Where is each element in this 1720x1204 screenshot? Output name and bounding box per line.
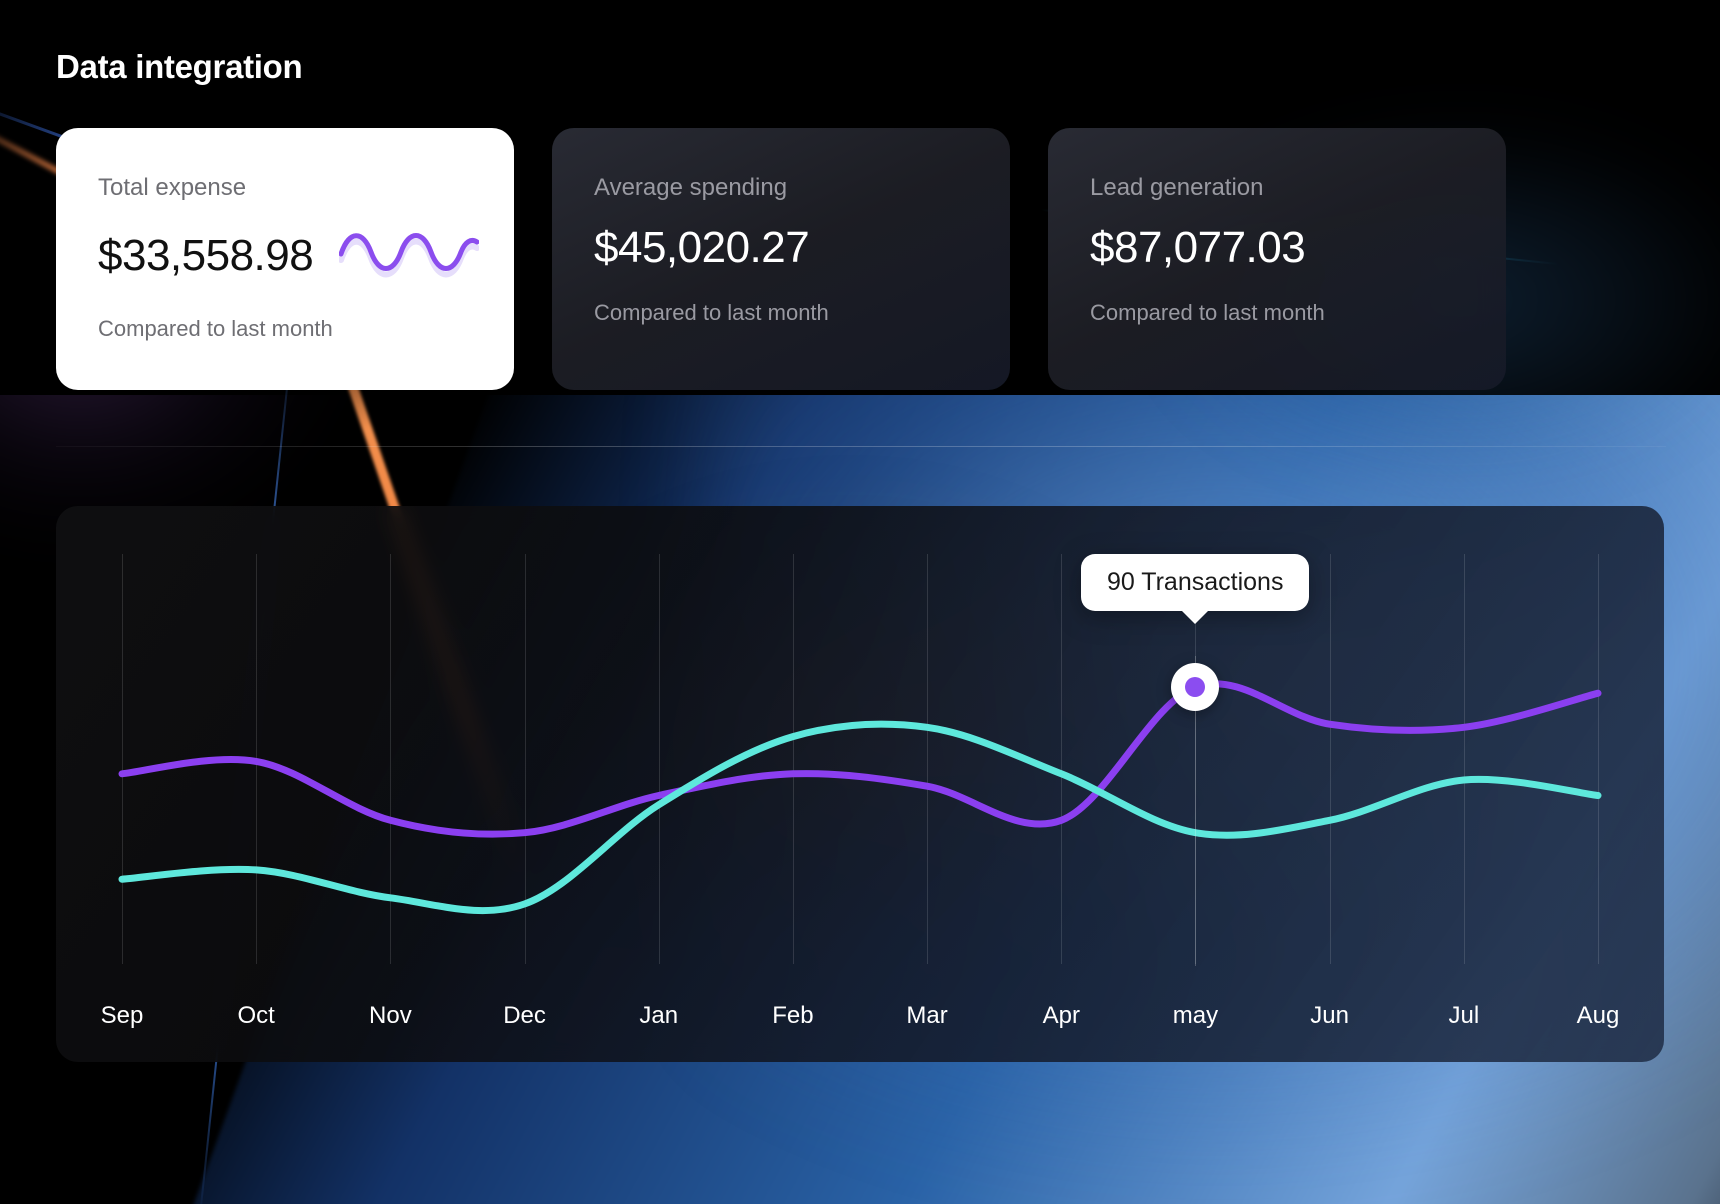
chart-tooltip: 90 Transactions — [1081, 554, 1310, 611]
section-divider — [56, 446, 1666, 447]
chart-tooltip-text: 90 Transactions — [1107, 570, 1284, 595]
chart-inner: 90 Transactions SepOctNovDecJanFebMarApr… — [56, 506, 1664, 1062]
stat-card-value: $33,558.98 — [98, 234, 313, 278]
stat-card-subtitle: Compared to last month — [594, 300, 968, 326]
stat-card-label: Lead generation — [1090, 176, 1464, 200]
chart-x-tick-label: may — [1173, 1002, 1218, 1030]
chart-x-axis: SepOctNovDecJanFebMarAprmayJunJulAug — [56, 1002, 1664, 1036]
chart-series-line — [122, 684, 1598, 834]
wave-sparkline-icon — [339, 226, 479, 286]
chart-x-tick-label: Apr — [1043, 1002, 1080, 1030]
tooltip-arrow-icon — [1181, 610, 1209, 624]
stat-card-value: $87,077.03 — [1090, 226, 1305, 270]
stat-card-total-expense[interactable]: Total expense $33,558.98 Compared to las… — [56, 128, 514, 390]
stat-card-value-row: $33,558.98 — [98, 226, 472, 286]
chart-x-tick-label: Aug — [1577, 1002, 1620, 1030]
marker-dot-icon — [1185, 677, 1205, 697]
page-title: Data integration — [56, 48, 302, 86]
chart-x-tick-label: Jan — [639, 1002, 678, 1030]
transactions-chart-panel[interactable]: 90 Transactions SepOctNovDecJanFebMarApr… — [56, 506, 1664, 1062]
stat-card-lead-generation[interactable]: Lead generation $87,077.03 Compared to l… — [1048, 128, 1506, 390]
dashboard-root: Data integration Total expense $33,558.9… — [0, 0, 1720, 1204]
chart-series-line — [122, 724, 1598, 910]
chart-x-tick-label: Oct — [238, 1002, 275, 1030]
stat-card-list: Total expense $33,558.98 Compared to las… — [56, 128, 1664, 390]
chart-x-tick-label: Mar — [906, 1002, 947, 1030]
stat-card-average-spending[interactable]: Average spending $45,020.27 Compared to … — [552, 128, 1010, 390]
chart-x-tick-label: Jun — [1310, 1002, 1349, 1030]
stat-card-value-row: $45,020.27 — [594, 226, 968, 270]
stat-card-value-row: $87,077.03 — [1090, 226, 1464, 270]
stat-card-subtitle: Compared to last month — [1090, 300, 1464, 326]
stat-card-label: Total expense — [98, 176, 472, 200]
chart-x-tick-label: Jul — [1448, 1002, 1479, 1030]
stat-card-value: $45,020.27 — [594, 226, 809, 270]
chart-x-tick-label: Sep — [101, 1002, 144, 1030]
chart-x-tick-label: Feb — [772, 1002, 813, 1030]
chart-x-tick-label: Dec — [503, 1002, 546, 1030]
chart-lines — [56, 506, 1664, 1062]
chart-x-tick-label: Nov — [369, 1002, 412, 1030]
stat-card-label: Average spending — [594, 176, 968, 200]
stat-card-subtitle: Compared to last month — [98, 316, 472, 342]
